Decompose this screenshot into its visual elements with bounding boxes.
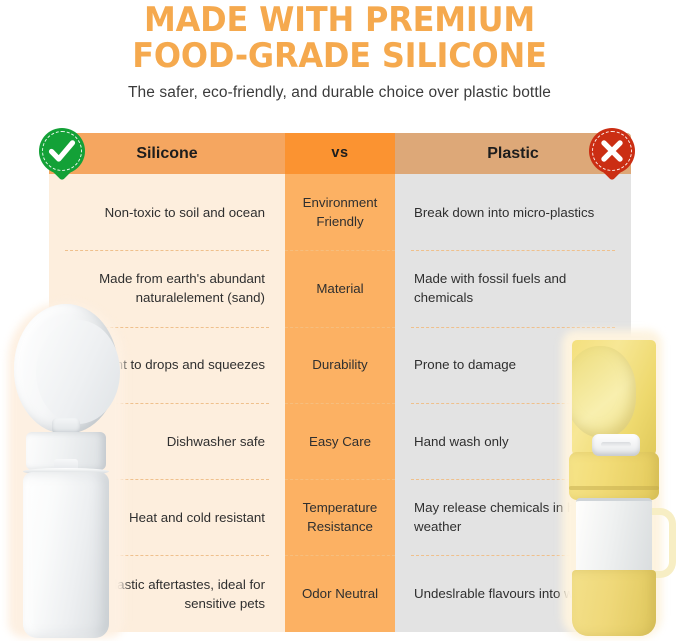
table-row: No plastic aftertastes, ideal for sensit… <box>49 555 631 631</box>
table-header-row: Silicone vs Plastic <box>49 133 631 174</box>
bottle-body <box>23 472 109 638</box>
cell-criteria: Odor Neutral <box>285 555 395 631</box>
page-title: MADE WITH PREMIUM FOOD-GRADE SILICONE <box>20 2 658 74</box>
comparison-table: Silicone vs Plastic Non-toxic to soil an… <box>49 133 631 632</box>
cell-criteria: Material <box>285 250 395 326</box>
bottle-glass-body <box>576 498 652 574</box>
bottle-lid-inner <box>36 320 120 424</box>
headline-line-2: FOOD-GRADE SILICONE <box>20 38 658 74</box>
table-row: Dishwasher safe Easy Care Hand wash only <box>49 403 631 479</box>
cell-criteria: Easy Care <box>285 403 395 479</box>
bottle-spout <box>592 434 640 456</box>
table-header-vs: vs <box>285 133 395 174</box>
bottle-collar-line <box>569 486 659 490</box>
table-row: Made from earth's abundant naturalelemen… <box>49 250 631 326</box>
table-row: Heat and cold resistant Temperature Resi… <box>49 479 631 555</box>
bottle-collar <box>569 452 659 500</box>
cross-icon <box>589 128 635 174</box>
table-header-plastic-label: Plastic <box>487 144 539 163</box>
cross-badge <box>589 128 635 184</box>
cell-plastic: Break down into micro-plastics <box>395 174 631 250</box>
page-subtitle: The safer, eco-friendly, and durable cho… <box>0 84 679 102</box>
bottle-strap <box>650 508 676 578</box>
table-row: Resililent to drops and squeezes Durabil… <box>49 327 631 403</box>
cell-plastic: Made with fossil fuels and chemicals <box>395 250 631 326</box>
cell-silicone: Non-toxic to soil and ocean <box>49 174 285 250</box>
white-plastic-bottle-image <box>2 296 130 641</box>
cell-criteria: Temperature Resistance <box>285 479 395 555</box>
headline-line-1: MADE WITH PREMIUM <box>144 0 535 40</box>
cell-criteria: Durability <box>285 327 395 403</box>
bottle-base <box>572 570 656 636</box>
check-badge <box>39 128 85 184</box>
table-header-silicone-label: Silicone <box>136 144 197 163</box>
table-header-vs-label: vs <box>331 144 348 163</box>
check-icon <box>39 128 85 174</box>
bottle-lid <box>14 304 118 434</box>
cell-criteria: Environment Friendly <box>285 174 395 250</box>
yellow-silicone-bottle-image <box>554 326 679 641</box>
table-row: Non-toxic to soil and ocean Environment … <box>49 174 631 250</box>
